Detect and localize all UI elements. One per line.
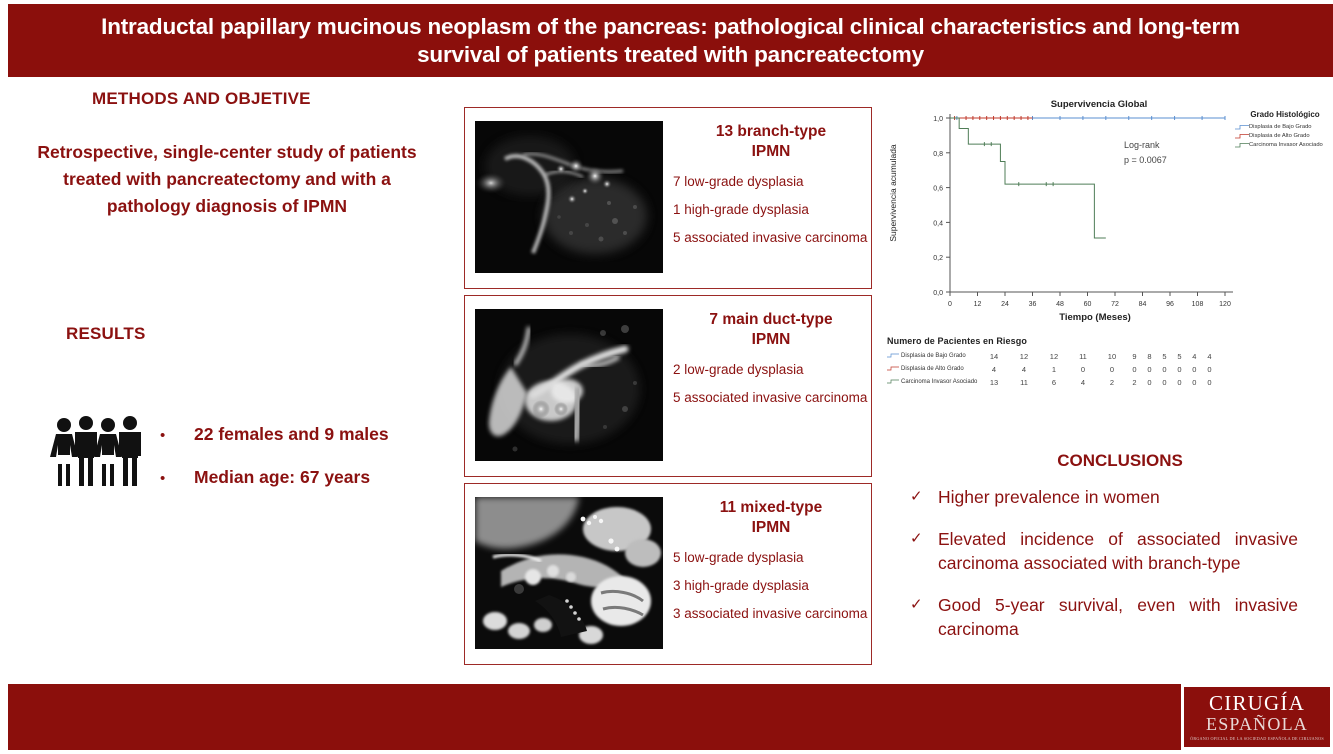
ipmn-branch-title-line1: 13 branch-type: [716, 123, 826, 140]
ipmn-mixed-line-2: 3 high-grade dysplasia: [673, 577, 869, 594]
risk-cell: 12: [1039, 350, 1069, 363]
list-item: ✓ Elevated incidence of associated invas…: [910, 527, 1330, 575]
check-icon: ✓: [910, 527, 938, 551]
ipmn-mixed-title-line2: IPMN: [752, 519, 791, 536]
risk-cell: 0: [1157, 376, 1172, 389]
ipmn-box-branch-type: 13 branch-type IPMN 7 low-grade dysplasi…: [464, 107, 872, 289]
risk-cell: 4: [1202, 350, 1217, 363]
risk-row-label-2: Displasia de Alto Grado: [887, 363, 979, 376]
numbers-at-risk-table: Numero de Pacientes en Riesgo Displasia …: [887, 336, 1227, 389]
svg-text:12: 12: [974, 301, 982, 308]
legend-item-2: Displasia de Alto Grado: [1235, 132, 1333, 140]
svg-text:120: 120: [1219, 301, 1231, 308]
risk-cell: 1: [1039, 363, 1069, 376]
conclusion-item-1: Higher prevalence in women: [938, 485, 1298, 509]
ipmn-mixed-title: 11 mixed-type IPMN: [673, 498, 869, 538]
risk-cell: 0: [1127, 363, 1142, 376]
risk-table-title: Numero de Pacientes en Riesgo: [887, 336, 1227, 346]
risk-cell: 6: [1039, 376, 1069, 389]
ipmn-mixed-line-1: 5 low-grade dysplasia: [673, 549, 869, 566]
chart-logrank-annotation: Log-rank p = 0.0067: [1124, 138, 1167, 168]
list-item: • Median age: 67 years: [160, 467, 460, 488]
bullet-marker-icon: •: [160, 470, 194, 487]
table-row: Carcinoma Invasor Asociado1311642200000: [887, 376, 1217, 389]
chart-x-axis-label: Tiempo (Meses): [975, 312, 1215, 323]
svg-text:108: 108: [1192, 301, 1204, 308]
people-group-icon: [50, 414, 150, 494]
ipmn-main-duct-line-1: 2 low-grade dysplasia: [673, 361, 869, 378]
survival-conclusions-column: Supervivencia Global Supervivencia acumu…: [880, 96, 1333, 331]
ipmn-box-main-duct-type: 7 main duct-type IPMN 2 low-grade dyspla…: [464, 295, 872, 477]
svg-text:72: 72: [1111, 301, 1119, 308]
chart-title: Supervivencia Global: [984, 99, 1214, 110]
svg-text:0,2: 0,2: [933, 255, 943, 262]
risk-cell: 8: [1142, 350, 1157, 363]
ct-mixed-type-scan: [475, 497, 663, 649]
legend-title: Grado Histológico: [1235, 110, 1333, 119]
methods-body-text: Retrospective, single-center study of pa…: [32, 139, 422, 220]
risk-cell: 0: [1097, 363, 1127, 376]
svg-text:0,0: 0,0: [933, 290, 943, 297]
journal-logo-line1: CIRUGÍA: [1209, 693, 1305, 714]
table-row: Displasia de Alto Grado44100000000: [887, 363, 1217, 376]
risk-cell: 0: [1142, 363, 1157, 376]
risk-cell: 12: [1009, 350, 1039, 363]
svg-text:60: 60: [1084, 301, 1092, 308]
journal-logo-line2: ESPAÑOLA: [1206, 714, 1308, 734]
ipmn-branch-line-1: 7 low-grade dysplasia: [673, 173, 869, 190]
list-item: ✓ Higher prevalence in women: [910, 485, 1330, 509]
risk-cell: 9: [1127, 350, 1142, 363]
legend-item-1: Displasia de Bajo Grado: [1235, 123, 1333, 131]
svg-text:0,4: 0,4: [933, 220, 943, 227]
legend-swatch-icon: [1235, 133, 1249, 140]
title-banner: Intraductal papillary mucinous neoplasm …: [8, 4, 1333, 77]
kaplan-meier-chart: Supervivencia Global Supervivencia acumu…: [880, 96, 1320, 331]
methods-heading: METHODS AND OBJETIVE: [92, 89, 311, 109]
conclusions-heading: CONCLUSIONS: [910, 451, 1330, 471]
risk-cell: 14: [979, 350, 1009, 363]
conclusions-section: CONCLUSIONS ✓ Higher prevalence in women…: [910, 451, 1330, 659]
check-icon: ✓: [910, 593, 938, 617]
risk-cell: 0: [1187, 363, 1202, 376]
results-bullet-list: • 22 females and 9 males • Median age: 6…: [160, 424, 460, 510]
legend-label: Displasia de Bajo Grado: [1249, 123, 1312, 131]
risk-cell: 0: [1172, 376, 1187, 389]
legend-item-3: Carcinoma Invasor Asociado: [1235, 141, 1333, 149]
risk-cell: 10: [1097, 350, 1127, 363]
mrcp-main-duct-type-scan: [475, 309, 663, 461]
svg-text:84: 84: [1139, 301, 1147, 308]
risk-cell: 0: [1069, 363, 1097, 376]
risk-cell: 5: [1172, 350, 1187, 363]
result-sex-distribution: 22 females and 9 males: [194, 424, 389, 445]
legend-label: Carcinoma Invasor Asociado: [1249, 141, 1323, 149]
svg-text:48: 48: [1056, 301, 1064, 308]
svg-text:0,6: 0,6: [933, 186, 943, 193]
risk-table: Displasia de Bajo Grado1412121110985544D…: [887, 350, 1217, 389]
results-heading: RESULTS: [66, 324, 145, 344]
svg-text:0,8: 0,8: [933, 151, 943, 158]
ipmn-branch-line-2: 1 high-grade dysplasia: [673, 201, 869, 218]
ipmn-mixed-title-line1: 11 mixed-type: [720, 499, 823, 516]
journal-logo-tagline: ÓRGANO OFICIAL DE LA SOCIEDAD ESPAÑOLA D…: [1190, 736, 1324, 741]
legend-swatch-icon: [887, 353, 899, 358]
ipmn-main-duct-title-line2: IPMN: [752, 331, 791, 348]
risk-cell: 11: [1009, 376, 1039, 389]
ipmn-subtype-column: 13 branch-type IPMN 7 low-grade dysplasi…: [464, 107, 874, 671]
ipmn-branch-title: 13 branch-type IPMN: [673, 122, 869, 162]
ipmn-main-duct-line-2: 5 associated invasive carcinoma: [673, 389, 869, 406]
risk-cell: 4: [1187, 350, 1202, 363]
mrcp-branch-type-scan: [475, 121, 663, 273]
ipmn-branch-text: 13 branch-type IPMN 7 low-grade dysplasi…: [673, 122, 869, 246]
journal-logo: CIRUGÍA ESPAÑOLA ÓRGANO OFICIAL DE LA SO…: [1181, 684, 1333, 750]
conclusion-item-3: Good 5-year survival, even with invasive…: [938, 593, 1298, 641]
svg-text:24: 24: [1001, 301, 1009, 308]
logrank-label: Log-rank: [1124, 138, 1167, 153]
list-item: • 22 females and 9 males: [160, 424, 460, 445]
result-median-age: Median age: 67 years: [194, 467, 370, 488]
ipmn-box-mixed-type: 11 mixed-type IPMN 5 low-grade dysplasia…: [464, 483, 872, 665]
risk-cell: 2: [1097, 376, 1127, 389]
risk-cell: 11: [1069, 350, 1097, 363]
risk-cell: 2: [1127, 376, 1142, 389]
ipmn-mixed-text: 11 mixed-type IPMN 5 low-grade dysplasia…: [673, 498, 869, 622]
p-value-label: p = 0.0067: [1124, 153, 1167, 168]
risk-cell: 4: [1069, 376, 1097, 389]
conclusion-item-2: Elevated incidence of associated invasiv…: [938, 527, 1298, 575]
risk-cell: 0: [1187, 376, 1202, 389]
list-item: ✓ Good 5-year survival, even with invasi…: [910, 593, 1330, 641]
ipmn-main-duct-title-line1: 7 main duct-type: [709, 311, 832, 328]
footer-banner: [8, 684, 1333, 750]
legend-swatch-icon: [887, 366, 899, 371]
risk-row-label-3: Carcinoma Invasor Asociado: [887, 376, 979, 389]
svg-text:36: 36: [1029, 301, 1037, 308]
risk-cell: 4: [1009, 363, 1039, 376]
ipmn-mixed-line-3: 3 associated invasive carcinoma: [673, 605, 869, 622]
legend-swatch-icon: [1235, 124, 1249, 131]
svg-text:0: 0: [948, 301, 952, 308]
chart-legend: Grado Histológico Displasia de Bajo Grad…: [1235, 110, 1333, 150]
risk-cell: 0: [1142, 376, 1157, 389]
ipmn-main-duct-text: 7 main duct-type IPMN 2 low-grade dyspla…: [673, 310, 869, 406]
ipmn-branch-line-3: 5 associated invasive carcinoma: [673, 229, 869, 246]
risk-cell: 4: [979, 363, 1009, 376]
svg-text:96: 96: [1166, 301, 1174, 308]
risk-cell: 0: [1202, 363, 1217, 376]
legend-label: Displasia de Alto Grado: [1249, 132, 1310, 140]
risk-cell: 5: [1157, 350, 1172, 363]
risk-cell: 0: [1172, 363, 1187, 376]
risk-cell: 0: [1157, 363, 1172, 376]
ipmn-branch-title-line2: IPMN: [752, 143, 791, 160]
table-row: Displasia de Bajo Grado1412121110985544: [887, 350, 1217, 363]
svg-text:1,0: 1,0: [933, 116, 943, 123]
risk-cell: 13: [979, 376, 1009, 389]
page-title: Intraductal papillary mucinous neoplasm …: [76, 13, 1266, 69]
methods-results-column: METHODS AND OBJETIVE Retrospective, sing…: [20, 84, 460, 664]
legend-swatch-icon: [1235, 142, 1249, 149]
check-icon: ✓: [910, 485, 938, 509]
legend-swatch-icon: [887, 379, 899, 384]
risk-cell: 0: [1202, 376, 1217, 389]
ipmn-main-duct-title: 7 main duct-type IPMN: [673, 310, 869, 350]
chart-y-axis-label: Supervivencia acumulada: [888, 133, 898, 253]
bullet-marker-icon: •: [160, 427, 194, 444]
risk-row-label-1: Displasia de Bajo Grado: [887, 350, 979, 363]
